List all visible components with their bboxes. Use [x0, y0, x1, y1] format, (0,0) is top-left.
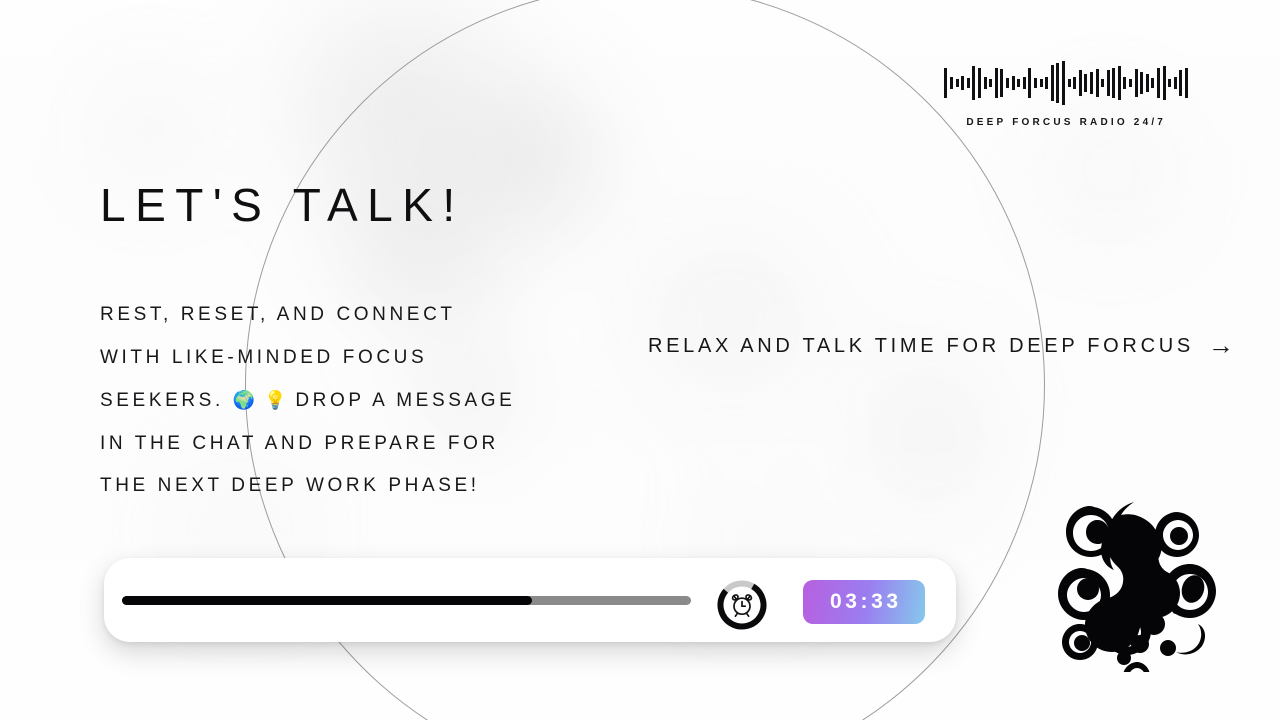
audio-player-card: 03:33	[104, 558, 956, 642]
abstract-bubble-cluster-icon	[1036, 476, 1232, 672]
timer-badge: 03:33	[803, 580, 925, 624]
light-bulb-icon: 💡	[264, 390, 286, 410]
station-logo-caption: DEEP FORCUS RADIO 24/7	[944, 117, 1188, 128]
page-title: LET'S TALK!	[100, 178, 465, 232]
body-line-3-suffix: DROP A MESSAGE	[295, 390, 515, 411]
body-paragraph: REST, RESET, AND CONNECT WITH LIKE-MINDE…	[100, 294, 570, 508]
body-line-5: THE NEXT DEEP WORK PHASE!	[100, 475, 480, 496]
body-line-3-prefix: SEEKERS.	[100, 390, 224, 411]
globe-icon: 🌍	[233, 390, 255, 410]
audio-waveform-icon	[944, 58, 1188, 108]
arrow-right-icon: →	[1208, 332, 1234, 358]
progress-slider[interactable]	[122, 596, 691, 605]
body-line-1: REST, RESET, AND CONNECT	[100, 304, 456, 325]
progress-fill	[122, 596, 532, 605]
presentation-slide: DEEP FORCUS RADIO 24/7 LET'S TALK! REST,…	[0, 0, 1280, 720]
tagline-text: RELAX AND TALK TIME FOR DEEP FORCUS	[648, 335, 1194, 358]
alarm-clock-icon	[732, 594, 753, 616]
station-logo: DEEP FORCUS RADIO 24/7	[944, 58, 1188, 128]
body-line-4: IN THE CHAT AND PREPARE FOR	[100, 433, 499, 454]
tagline[interactable]: RELAX AND TALK TIME FOR DEEP FORCUS →	[648, 333, 1234, 359]
alarm-clock-button[interactable]	[716, 579, 768, 631]
body-line-2: WITH LIKE-MINDED FOCUS	[100, 347, 427, 368]
